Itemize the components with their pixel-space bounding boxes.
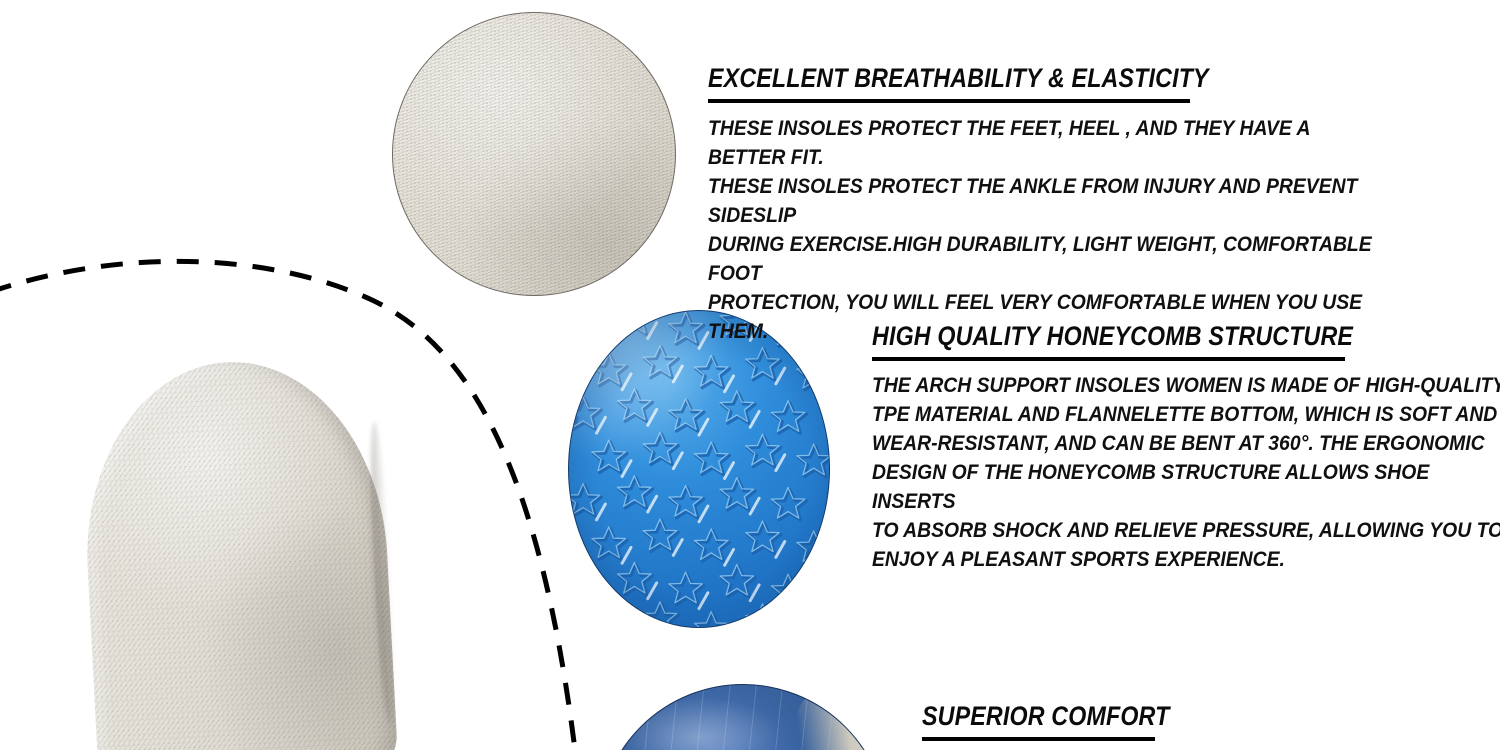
section-comfort: SUPERIOR COMFORT: [922, 700, 1342, 741]
section-honeycomb: HIGH QUALITY HONEYCOMB STRUCTURE THE ARC…: [872, 320, 1500, 574]
section-breathability: EXCELLENT BREATHABILITY & ELASTICITY THE…: [708, 62, 1388, 346]
gel-star-texture-swatch: [568, 310, 830, 628]
insole-toe-photo: [77, 354, 399, 750]
title-underline: [872, 357, 1345, 361]
infographic-canvas: EXCELLENT BREATHABILITY & ELASTICITY THE…: [0, 0, 1500, 750]
star-pattern: [568, 310, 830, 628]
title-underline: [922, 737, 1155, 741]
section-title-comfort: SUPERIOR COMFORT: [922, 700, 1283, 732]
blue-insole-swatch: [598, 684, 888, 750]
flannelette-fabric-swatch: [392, 12, 676, 296]
section-title-breathability: EXCELLENT BREATHABILITY & ELASTICITY: [708, 62, 1293, 94]
section-body-honeycomb: THE ARCH SUPPORT INSOLES WOMEN IS MADE O…: [872, 371, 1500, 574]
section-body-breathability: THESE INSOLES PROTECT THE FEET, HEEL , A…: [708, 114, 1392, 346]
title-underline: [708, 99, 1190, 103]
insole-edge-shadow: [366, 421, 398, 724]
section-title-honeycomb: HIGH QUALITY HONEYCOMB STRUCTURE: [872, 320, 1422, 352]
fabric-texture: [393, 13, 675, 295]
